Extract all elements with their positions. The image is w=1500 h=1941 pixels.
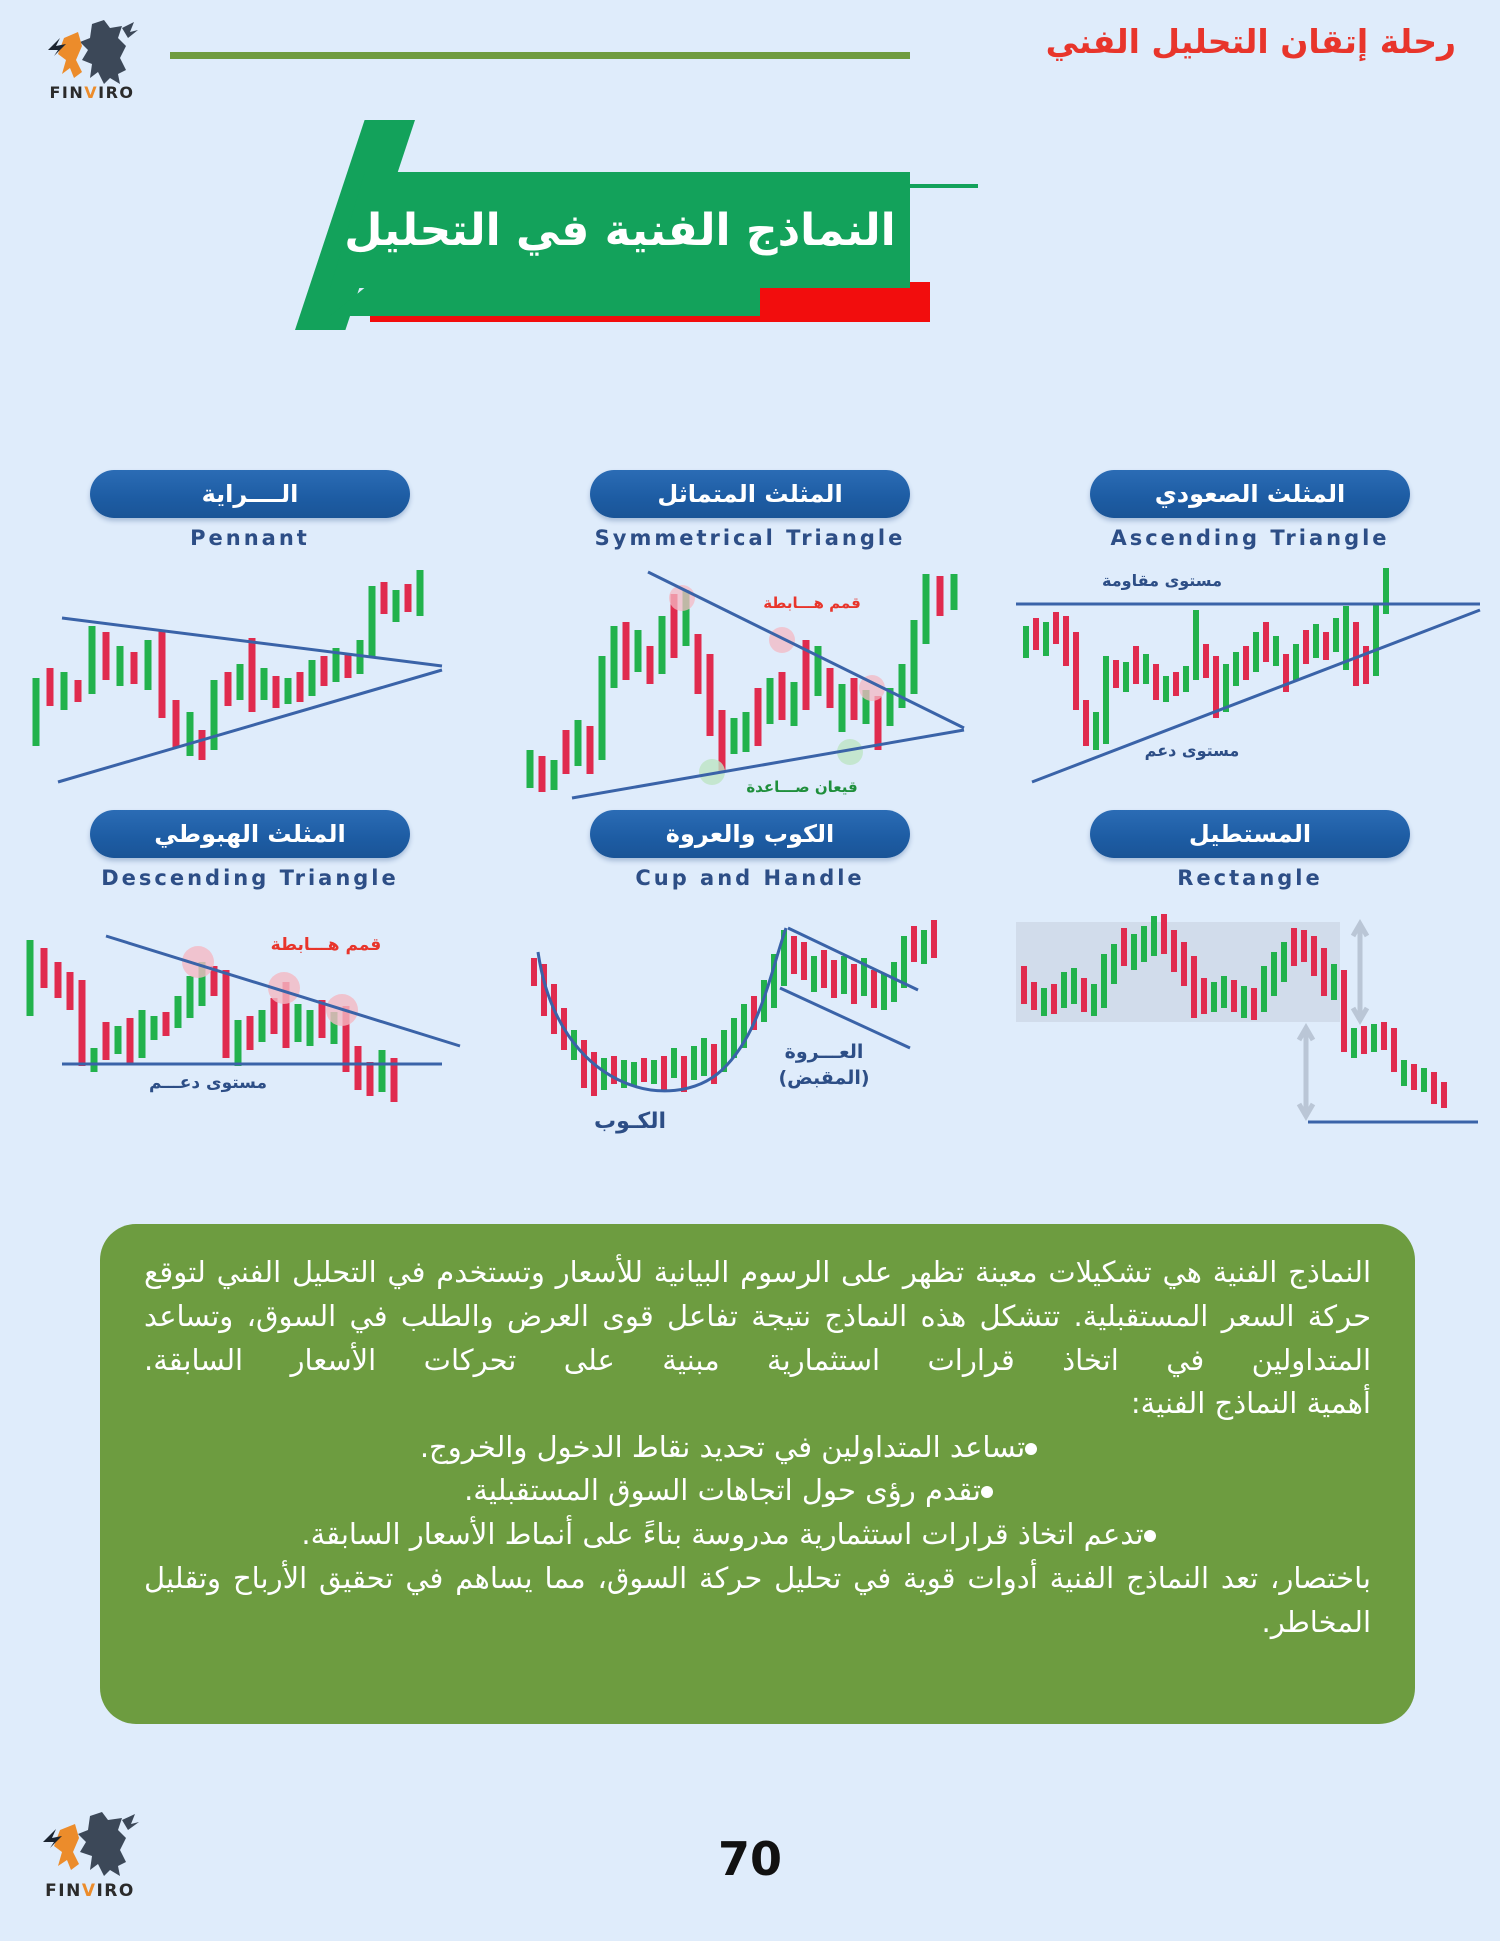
ascending-triangle-chart: مستوى مقاومة مستوى دعم [1012,560,1488,800]
banner-title-text: النماذج الفنية في التحليل [330,172,910,288]
summary-box: النماذج الفنية هي تشكيلات معينة تظهر على… [100,1224,1415,1724]
pattern-title-en: Ascending Triangle [1000,526,1500,550]
annotation-cup: الكـوب [594,1109,666,1134]
page-footer: FINVIRO 70 [0,1800,1500,1941]
measure-arrow-upper [1353,924,1367,1020]
bullet-point-icon [1025,1443,1037,1455]
list-item: تقدم رؤى حول اتجاهات السوق المستقبلية. [144,1469,1327,1513]
candles [1026,568,1386,750]
summary-subheading: أهمية النماذج الفنية: [144,1382,1371,1426]
bullet-point-icon [1144,1530,1156,1542]
pattern-title-ar: المثلث المتماثل [590,470,910,518]
summary-closing: باختصار، تعد النماذج الفنية أدوات قوية ف… [144,1556,1371,1644]
candles [530,574,954,792]
list-item-label: تقدم رؤى حول اتجاهات السوق المستقبلية. [464,1473,981,1507]
annotation-descending-peaks: قمم هـــابطة [271,935,382,955]
page-header: FINVIRO رحلة إتقان التحليل الفني [0,0,1500,108]
pattern-title-en: Cup and Handle [500,866,1000,890]
pattern-title-ar: المثلث الصعودي [1090,470,1410,518]
pattern-title-en: Symmetrical Triangle [500,526,1000,550]
pattern-title-en: Rectangle [1000,866,1500,890]
descending-triangle-chart: قمم هـــابطة مستوى دعـــم [12,900,488,1140]
pattern-card-ascending-triangle: المثلث الصعودي Ascending Triangle [1000,470,1500,810]
pattern-card-cup-and-handle: الكوب والعروة Cup and Handle [500,810,1000,1150]
header-divider-rule [170,52,910,59]
pattern-title-en: Descending Triangle [0,866,500,890]
svg-text:FINVIRO: FINVIRO [49,83,134,102]
header-title: رحلة إتقان التحليل الفني [1046,22,1456,61]
annotation-ascending-bottoms: قيعان صـــاعدة [746,778,857,796]
finviro-logo-header: FINVIRO [34,16,150,102]
list-item: تدعم اتخاذ قرارات استثمارية مدروسة بناءً… [144,1513,1327,1557]
trendlines [62,936,460,1064]
pattern-title-ar: الــــراية [90,470,410,518]
pattern-card-descending-triangle: المثلث الهبوطي Descending Triangle [0,810,500,1150]
pattern-title-en: Pennant [0,526,500,550]
rectangle-chart [1012,900,1488,1140]
list-item: تساعد المتداولين في تحديد نقاط الدخول وا… [144,1426,1327,1470]
cup-and-handle-chart: العـــروة (المقبض) الكـوب [512,900,988,1140]
candles [534,920,934,1096]
trendlines [1016,604,1480,782]
handle-channel [780,928,918,1048]
pattern-card-rectangle: المستطيل Rectangle [1000,810,1500,1150]
benefits-list: تساعد المتداولين في تحديد نقاط الدخول وا… [144,1426,1371,1557]
bullet-point-icon [981,1486,993,1498]
pattern-title-ar: المستطيل [1090,810,1410,858]
measure-arrow-lower [1299,1028,1313,1116]
pattern-title-ar: الكوب والعروة [590,810,910,858]
pattern-grid: الــــراية Pennant [0,470,1500,1170]
pattern-title-ar: المثلث الهبوطي [90,810,410,858]
pattern-card-pennant: الــــراية Pennant [0,470,500,810]
page-number: 70 [0,1832,1500,1886]
bull-icon [48,20,138,84]
pennant-chart [12,560,488,800]
annotation-resistance-level: مستوى مقاومة [1102,571,1222,590]
annotation-support-level: مستوى دعم [1145,741,1240,760]
symmetrical-triangle-chart: قمم هـــابطة قيعان صـــاعدة [512,560,988,800]
summary-paragraph: النماذج الفنية هي تشكيلات معينة تظهر على… [144,1250,1371,1382]
annotation-handle: العـــروة [785,1041,864,1063]
banner-green-tail [330,288,760,316]
pattern-card-symmetrical-triangle: المثلث المتماثل Symmetrical Triangle [500,470,1000,810]
title-banner: النماذج الفنية في التحليل [0,112,1500,342]
annotation-descending-peaks: قمم هـــابطة [763,594,861,612]
annotation-handle-alt: (المقبض) [778,1067,869,1089]
list-item-label: تدعم اتخاذ قرارات استثمارية مدروسة بناءً… [301,1517,1143,1551]
annotation-support-level: مستوى دعـــم [149,1073,267,1093]
list-item-label: تساعد المتداولين في تحديد نقاط الدخول وا… [420,1430,1025,1464]
